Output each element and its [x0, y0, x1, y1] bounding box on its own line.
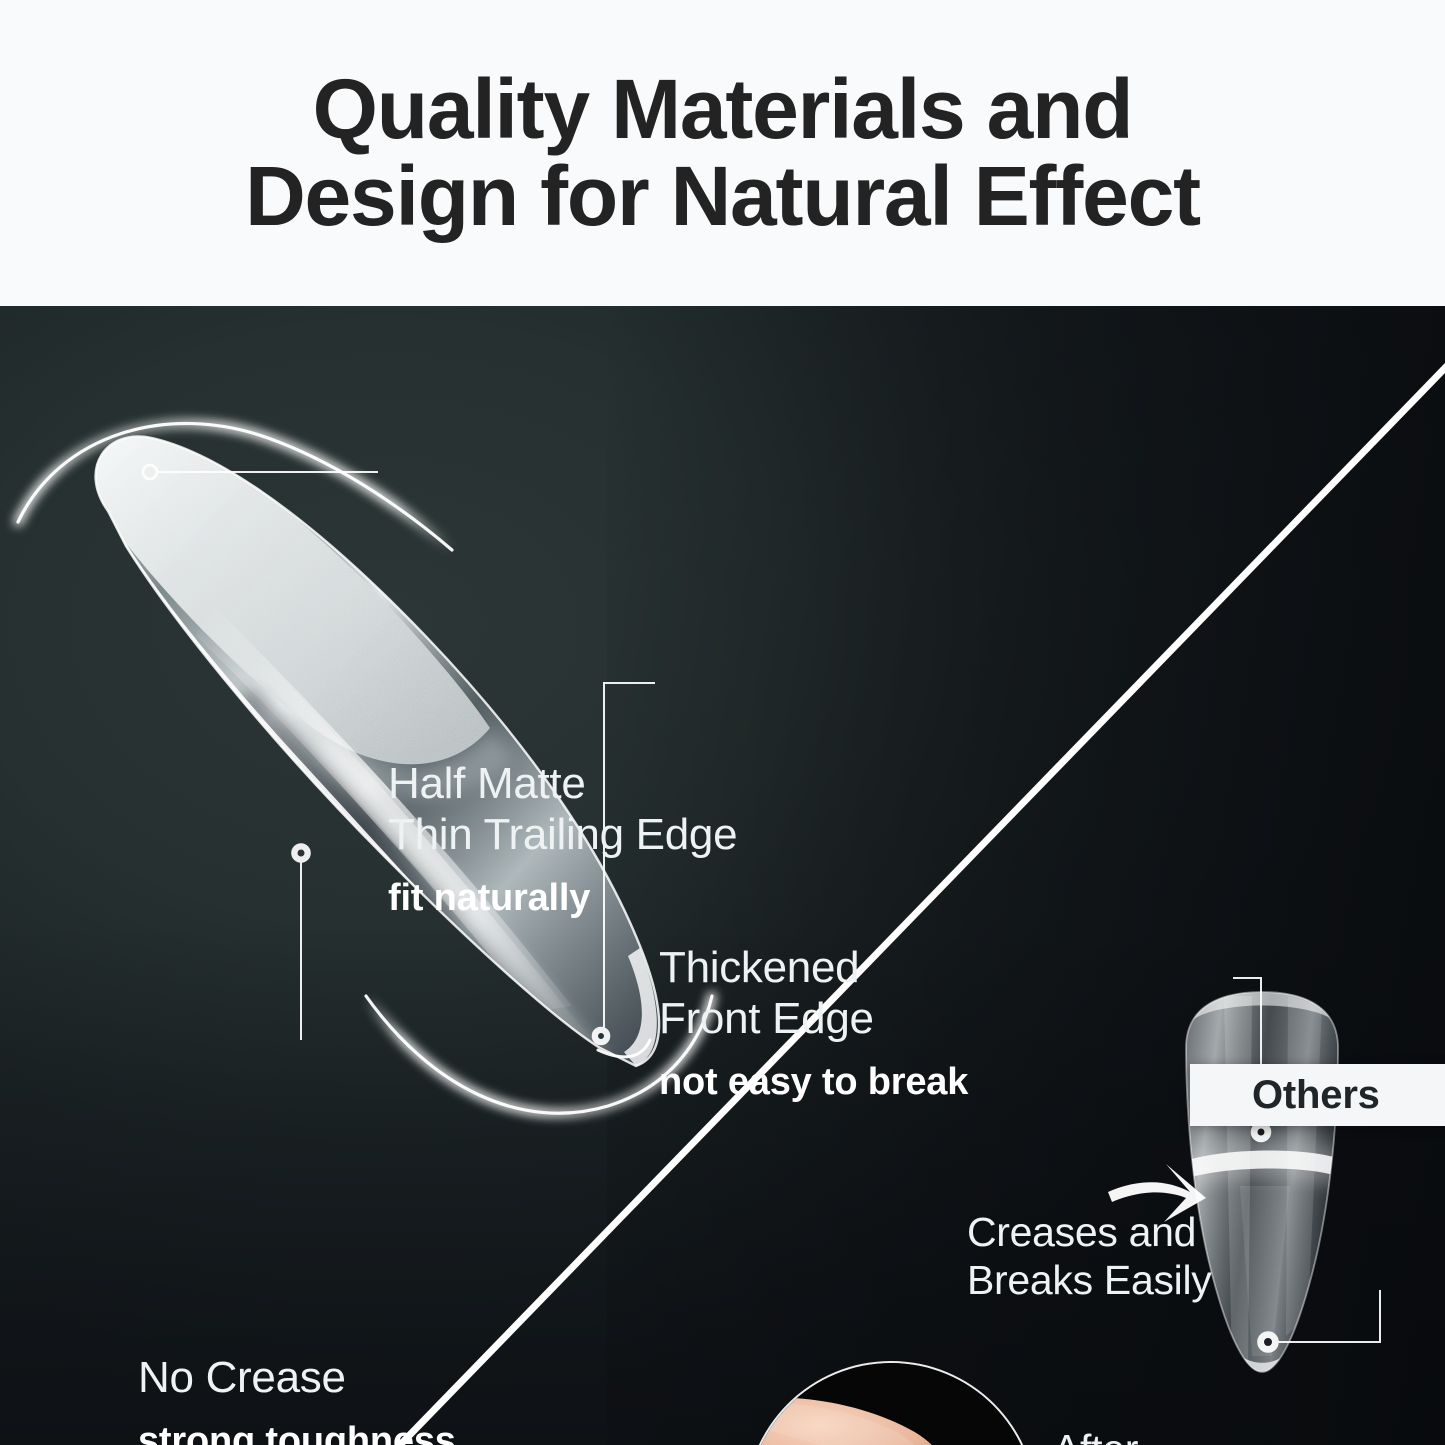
- callout-thickened-front-edge-title: Thickened Front Edge: [659, 942, 968, 1044]
- page-title: Quality Materials and Design for Natural…: [93, 66, 1353, 241]
- callout-half-matte: Half Matte Thin Trailing Edge fit natura…: [388, 758, 737, 922]
- page-title-line-2: Design for Natural Effect: [93, 153, 1353, 240]
- callout-after-bend-title: After Bend: [1053, 1424, 1148, 1445]
- callout-no-crease: No Crease strong toughness: [138, 1352, 456, 1445]
- callout-thickened-front-edge: Thickened Front Edge not easy to break: [659, 942, 968, 1106]
- page-title-line-1: Quality Materials and: [313, 62, 1133, 156]
- callout-no-crease-title: No Crease: [138, 1352, 456, 1403]
- callout-half-matte-subtitle: fit naturally: [388, 876, 737, 922]
- competitor-badge-label: Others: [1252, 1073, 1380, 1118]
- header-band: Quality Materials and Design for Natural…: [0, 0, 1445, 306]
- infographic-page: Quality Materials and Design for Natural…: [0, 0, 1445, 1445]
- competitor-badge-others: Others: [1190, 1064, 1445, 1126]
- fingers-pinching-nail-tip-photo: [747, 1363, 1035, 1445]
- callout-creases-breaks-easily-title: Creases and Breaks Easily: [967, 1208, 1211, 1305]
- callout-no-crease-subtitle: strong toughness: [138, 1419, 456, 1445]
- callout-creases-breaks-easily: Creases and Breaks Easily: [967, 1208, 1211, 1305]
- callout-half-matte-title: Half Matte Thin Trailing Edge: [388, 758, 737, 860]
- bend-demo-photo: [745, 1361, 1037, 1445]
- callout-after-bend: After Bend: [1053, 1424, 1148, 1445]
- comparison-stage: Half Matte Thin Trailing Edge fit natura…: [0, 306, 1445, 1445]
- callout-thickened-front-edge-subtitle: not easy to break: [659, 1060, 968, 1106]
